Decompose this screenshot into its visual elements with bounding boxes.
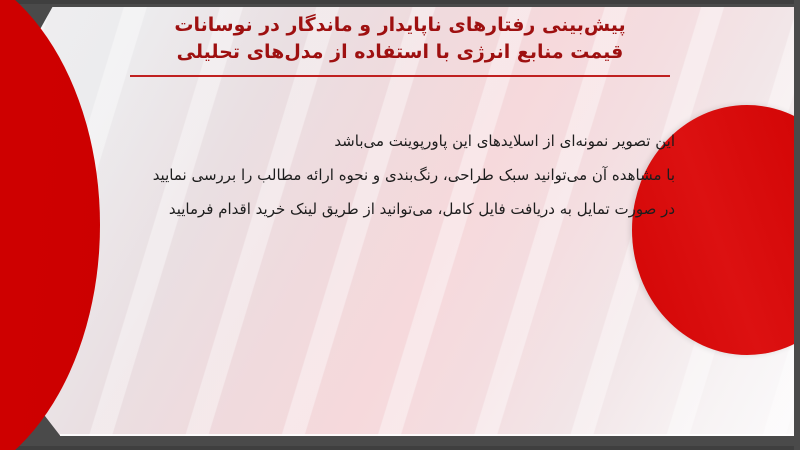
slide-frame-top-edge xyxy=(0,0,800,4)
slide-frame-right-edge xyxy=(794,0,800,450)
slide-body-line-3: در صورت تمایل به دریافت فایل کامل، می‌تو… xyxy=(75,192,675,226)
slide-body-line-2: با مشاهده آن می‌توانید سبک طراحی، رنگ‌بن… xyxy=(75,158,675,192)
slide-title: پیش‌بینی رفتارهای ناپایدار و ماندگار در … xyxy=(120,12,680,66)
presentation-slide: پیش‌بینی رفتارهای ناپایدار و ماندگار در … xyxy=(0,0,800,450)
slide-title-line-1: پیش‌بینی رفتارهای ناپایدار و ماندگار در … xyxy=(120,12,680,39)
slide-frame-bottom-edge xyxy=(0,446,800,450)
slide-body-line-1: این تصویر نمونه‌ای از اسلایدهای این پاور… xyxy=(75,124,675,158)
panel-bottom-highlight xyxy=(60,434,795,436)
slide-body-text: این تصویر نمونه‌ای از اسلایدهای این پاور… xyxy=(75,124,675,226)
slide-title-line-2: قیمت منابع انرژی با استفاده از مدل‌های ت… xyxy=(120,39,680,66)
title-underline-rule xyxy=(130,75,670,77)
